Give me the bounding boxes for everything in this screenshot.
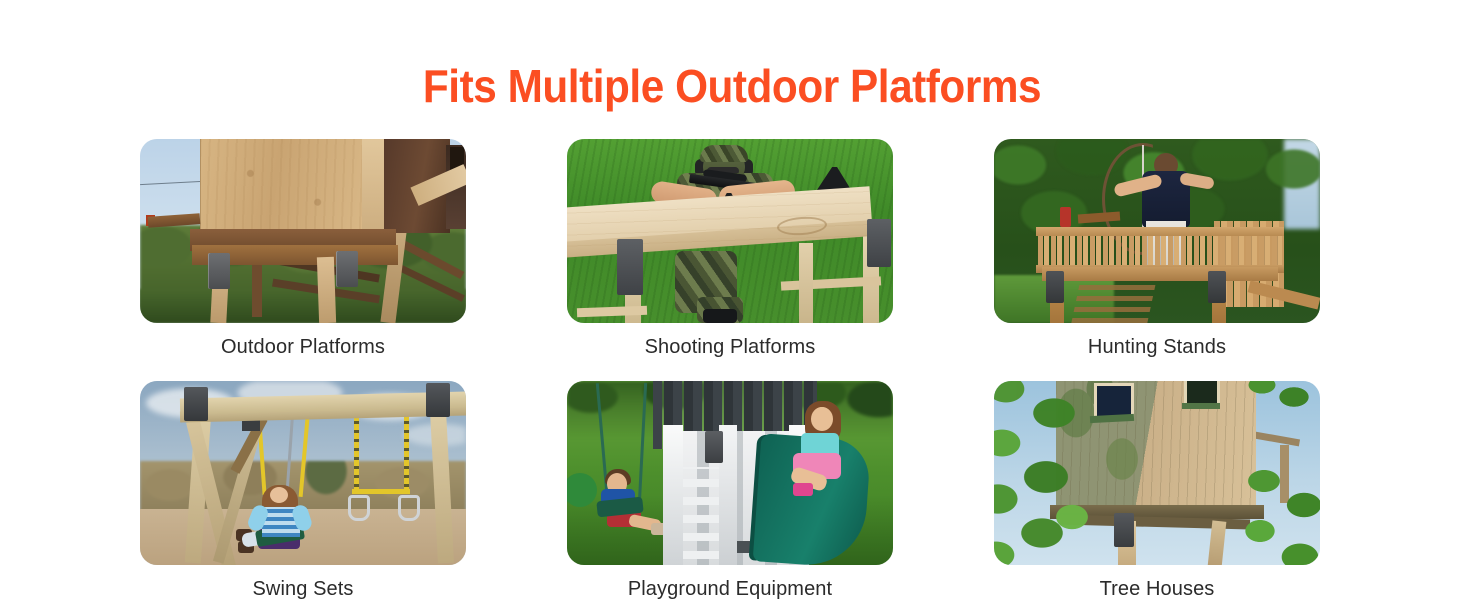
shooting-bench-photo (567, 139, 893, 323)
category-tile-hunting-stands[interactable]: Hunting Stands (994, 139, 1320, 359)
elevated-hunting-blind-photo (140, 139, 466, 323)
tile-caption: Tree Houses (994, 577, 1320, 601)
page-title: Fits Multiple Outdoor Platforms (59, 62, 1406, 110)
feature-banner: Fits Multiple Outdoor Platforms (0, 0, 1464, 600)
category-tile-tree-houses[interactable]: Tree Houses (994, 381, 1320, 601)
category-tile-swing-sets[interactable]: Swing Sets (140, 381, 466, 601)
tile-caption: Swing Sets (140, 577, 466, 601)
swing-set-photo (140, 381, 466, 565)
hunting-stand-deck-photo (994, 139, 1320, 323)
tree-house-photo (994, 381, 1320, 565)
tile-caption: Shooting Platforms (567, 335, 893, 359)
playground-equipment-photo (567, 381, 893, 565)
tile-caption: Hunting Stands (994, 335, 1320, 359)
category-tile-playground-equipment[interactable]: Playground Equipment (567, 381, 893, 601)
category-tile-outdoor-platforms[interactable]: Outdoor Platforms (140, 139, 466, 359)
tile-caption: Outdoor Platforms (140, 335, 466, 359)
tile-caption: Playground Equipment (567, 577, 893, 601)
category-tile-shooting-platforms[interactable]: Shooting Platforms (567, 139, 893, 359)
category-grid: Outdoor Platforms (140, 139, 1320, 601)
